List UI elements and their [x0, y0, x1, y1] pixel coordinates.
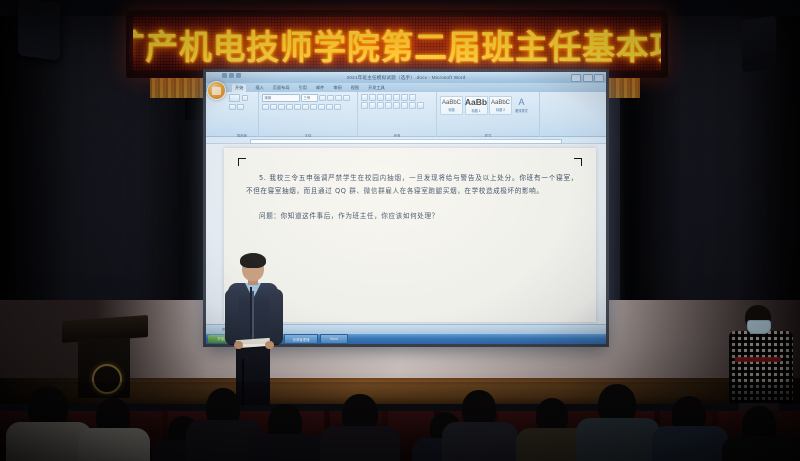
- presenter-arm-left: [225, 289, 239, 345]
- change-styles-label: 更改样式: [515, 108, 528, 113]
- led-banner: 四川矿产机电技师学院第二届班主任基本功比赛: [126, 10, 668, 78]
- redo-icon[interactable]: [236, 73, 241, 78]
- presenter-hair: [240, 253, 266, 268]
- font-color-icon[interactable]: [326, 104, 333, 111]
- taskbar-button-word[interactable]: Word: [320, 334, 348, 344]
- presenter-zipper: [252, 291, 254, 343]
- tab-review[interactable]: 审阅: [333, 85, 341, 91]
- character-border-icon[interactable]: [334, 104, 341, 111]
- increase-indent-icon[interactable]: [393, 94, 400, 101]
- style-heading-2[interactable]: AaBbC 标题 2: [489, 96, 512, 115]
- tab-insert[interactable]: 插入: [255, 85, 263, 91]
- change-case-icon[interactable]: [310, 104, 317, 111]
- tab-home[interactable]: 开始: [232, 84, 246, 92]
- tab-mailings[interactable]: 邮件: [316, 85, 324, 91]
- taskbar-button-explorer[interactable]: 资源管理器: [284, 334, 318, 344]
- show-marks-icon[interactable]: [409, 94, 416, 101]
- style-name: 标题 1: [471, 108, 480, 113]
- subscript-icon[interactable]: [294, 104, 301, 111]
- phonetic-guide-icon[interactable]: [343, 95, 350, 102]
- ceiling-speaker-left: [18, 0, 60, 61]
- style-name: 标题 2: [496, 107, 505, 112]
- document-paragraph: 5. 我校三令五申强调严禁学生在校园内抽烟，一旦发现将给与警告及以上处分。你班有…: [246, 172, 578, 198]
- attendant-face-mask: [747, 320, 771, 334]
- format-painter-icon[interactable]: [237, 104, 244, 111]
- italic-icon[interactable]: [270, 104, 277, 111]
- document-question: 问题：你知道这件事后，作为班主任，你应该如何处理？: [246, 210, 578, 223]
- office-orb-button[interactable]: [207, 81, 226, 100]
- decrease-indent-icon[interactable]: [385, 94, 392, 101]
- attendant-coat-stripe: [735, 357, 781, 362]
- tab-developer[interactable]: 开发工具: [368, 85, 385, 91]
- justify-icon[interactable]: [385, 102, 392, 109]
- line-spacing-icon[interactable]: [401, 102, 408, 109]
- borders-icon[interactable]: [417, 102, 424, 109]
- quick-access-toolbar[interactable]: [222, 73, 241, 78]
- copy-icon[interactable]: [229, 104, 236, 111]
- multilevel-list-icon[interactable]: [377, 94, 384, 101]
- ribbon-group-paragraph: 段落: [358, 92, 437, 138]
- style-title[interactable]: AaBbC 标题: [440, 96, 463, 115]
- save-icon[interactable]: [222, 73, 227, 78]
- underline-icon[interactable]: [278, 104, 285, 111]
- ribbon-group-clipboard: 剪贴板: [226, 92, 259, 138]
- shrink-font-icon[interactable]: [327, 95, 334, 102]
- word-title-bar: 2021年班主任模拟试题（选手）.docx - Microsoft Word: [206, 72, 606, 83]
- tab-page-layout[interactable]: 页面布局: [273, 85, 290, 91]
- numbering-icon[interactable]: [369, 94, 376, 101]
- window-controls[interactable]: [571, 74, 604, 82]
- ribbon-tab-strip[interactable]: 开始 插入 页面布局 引用 邮件 审阅 视图 开发工具: [206, 83, 606, 92]
- minimize-button[interactable]: [571, 74, 581, 82]
- clear-format-icon[interactable]: [335, 95, 342, 102]
- document-text-area[interactable]: 5. 我校三令五申强调严禁学生在校园内抽烟，一旦发现将给与警告及以上处分。你班有…: [246, 172, 578, 223]
- ribbon: 剪贴板 宋体 三号: [206, 92, 606, 137]
- change-styles-button[interactable]: A 更改样式: [514, 98, 530, 113]
- font-name-box[interactable]: 宋体: [262, 94, 300, 102]
- align-right-icon[interactable]: [377, 102, 384, 109]
- style-preview: AaBbC: [442, 100, 461, 106]
- style-heading-1[interactable]: AaBb 标题 1: [465, 96, 488, 115]
- ceiling-speaker-right: [742, 16, 776, 73]
- ribbon-group-styles: AaBbC 标题 AaBb 标题 1 AaBbC 标题 2 A 更改样式: [437, 92, 540, 138]
- style-preview: AaBb: [465, 98, 487, 107]
- ribbon-group-font: 宋体 三号: [259, 92, 358, 138]
- horizontal-ruler[interactable]: [206, 137, 606, 144]
- align-center-icon[interactable]: [369, 102, 376, 109]
- distribute-icon[interactable]: [393, 102, 400, 109]
- word-title-text: 2021年班主任模拟试题（选手）.docx - Microsoft Word: [347, 75, 466, 81]
- margin-corner-top-left: [238, 158, 246, 166]
- style-name: 标题: [448, 107, 454, 112]
- paste-icon[interactable]: [229, 94, 240, 102]
- led-banner-text: 四川矿产机电技师学院第二届班主任基本功比赛: [133, 20, 661, 69]
- sort-icon[interactable]: [401, 94, 408, 101]
- strikethrough-icon[interactable]: [286, 104, 293, 111]
- auditorium-scene: 四川矿产机电技师学院第二届班主任基本功比赛 2021年班主任模拟试题（选手）.d…: [0, 0, 800, 461]
- maximize-button[interactable]: [583, 74, 593, 82]
- tab-view[interactable]: 视图: [351, 85, 359, 91]
- presenter-arm-right: [269, 289, 283, 345]
- cut-icon[interactable]: [242, 95, 249, 102]
- align-left-icon[interactable]: [361, 102, 368, 109]
- font-size-box[interactable]: 三号: [301, 94, 318, 102]
- superscript-icon[interactable]: [302, 104, 309, 111]
- highlight-color-icon[interactable]: [318, 104, 325, 111]
- presenter-hand-left: [234, 341, 243, 349]
- presenter-lanyard: [250, 287, 252, 335]
- undo-icon[interactable]: [229, 73, 234, 78]
- change-styles-icon: A: [518, 98, 524, 107]
- bold-icon[interactable]: [262, 104, 269, 111]
- close-button[interactable]: [594, 74, 604, 82]
- margin-corner-top-right: [574, 158, 582, 166]
- bullets-icon[interactable]: [361, 94, 368, 101]
- audience-area: [0, 382, 800, 461]
- tab-references[interactable]: 引用: [299, 85, 307, 91]
- style-preview: AaBbC: [491, 100, 510, 106]
- shading-icon[interactable]: [409, 102, 416, 109]
- presenter-hand-right: [265, 341, 274, 349]
- grow-font-icon[interactable]: [319, 95, 326, 102]
